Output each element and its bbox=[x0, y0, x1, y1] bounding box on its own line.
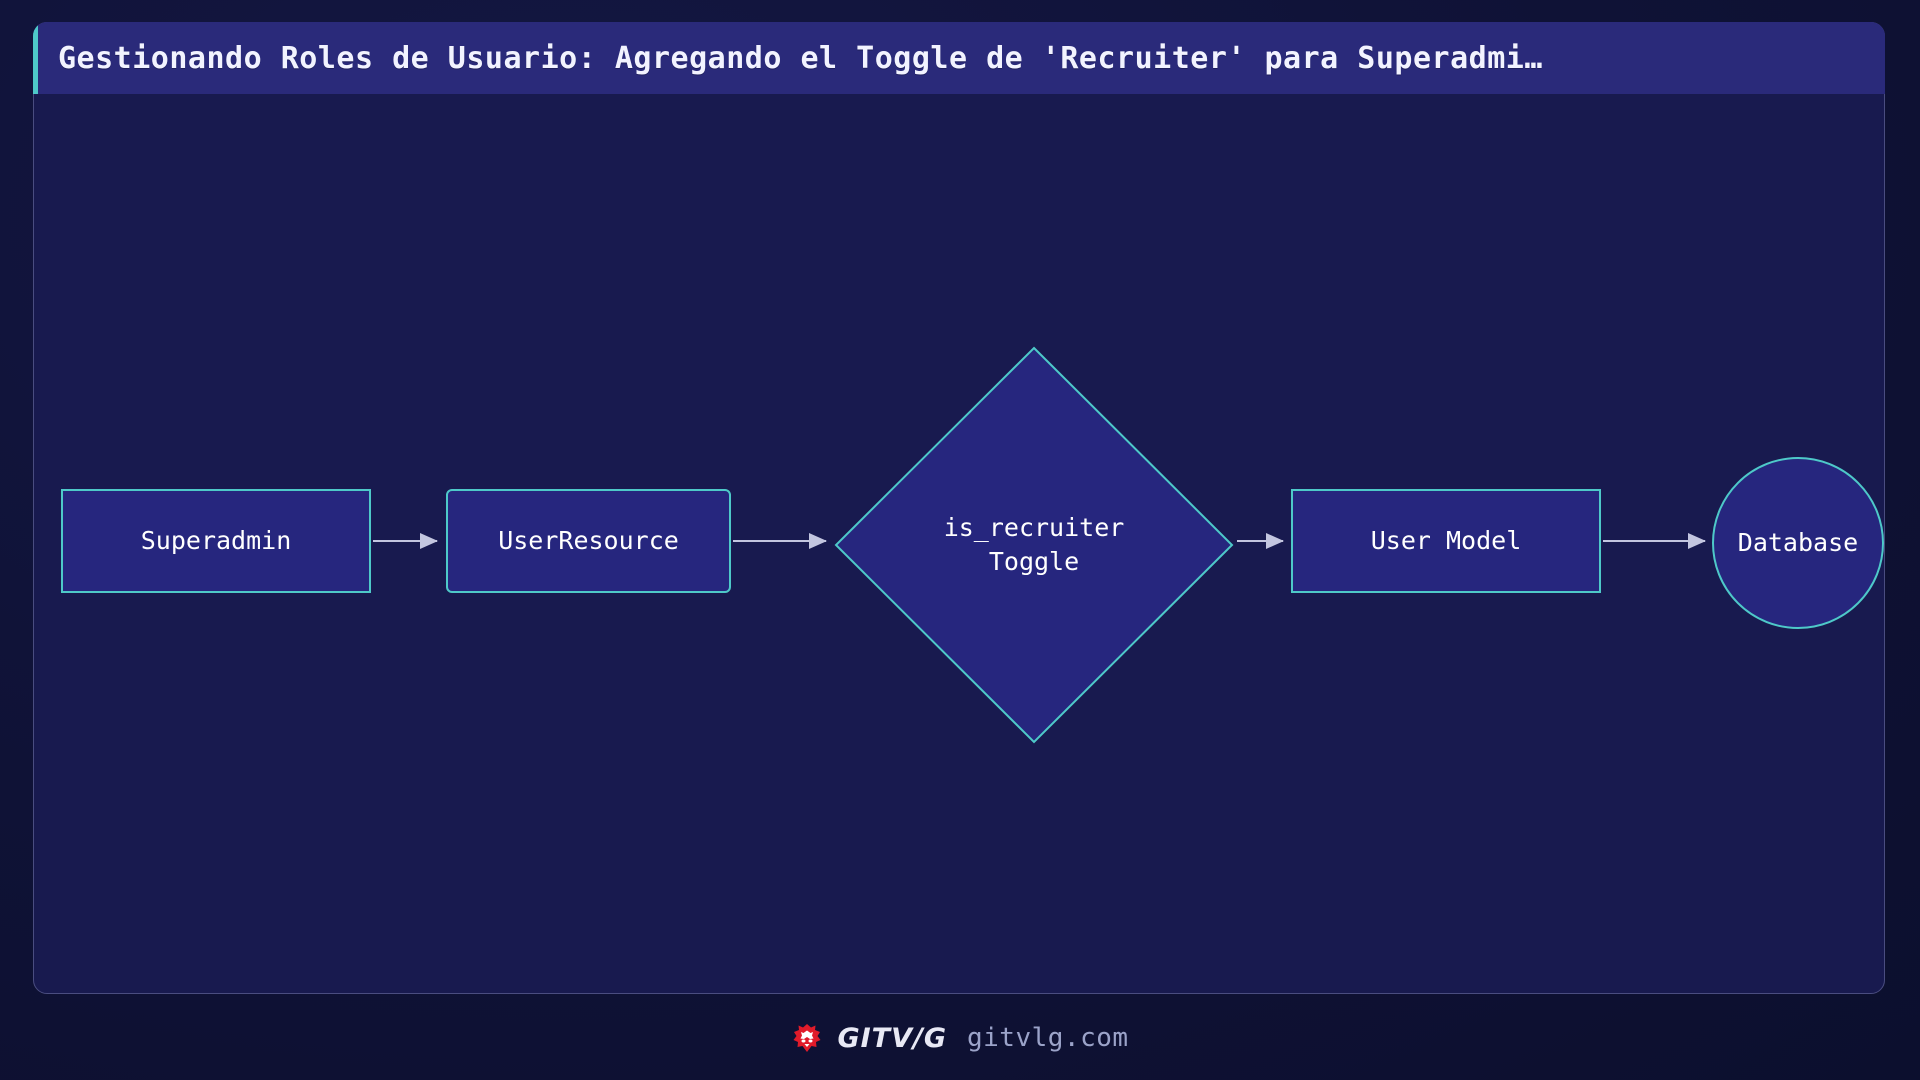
flow-node-userresource[interactable]: UserResource bbox=[446, 489, 731, 593]
title-accent-bar bbox=[33, 22, 38, 94]
flow-node-superadmin-label: Superadmin bbox=[141, 524, 292, 558]
flow-node-database[interactable]: Database bbox=[1712, 457, 1884, 629]
flow-node-superadmin[interactable]: Superadmin bbox=[61, 489, 371, 593]
flow-node-user-model-label: User Model bbox=[1371, 524, 1522, 558]
flow-node-decision-is-recruiter-toggle[interactable]: is_recruiter Toggle bbox=[833, 345, 1235, 745]
brand-name: GITV/G bbox=[837, 1023, 947, 1054]
flow-node-user-model[interactable]: User Model bbox=[1291, 489, 1601, 593]
slide-title-banner: Gestionando Roles de Usuario: Agregando … bbox=[33, 22, 1885, 94]
footer-branding: GITV/G gitvlg.com bbox=[0, 1010, 1920, 1066]
flow-node-decision-label: is_recruiter Toggle bbox=[833, 345, 1235, 745]
flowchart-canvas: Superadmin UserResource is_recruiter Tog… bbox=[33, 94, 1885, 994]
flow-node-database-label: Database bbox=[1738, 526, 1858, 560]
flow-node-userresource-label: UserResource bbox=[498, 524, 679, 558]
page-title: Gestionando Roles de Usuario: Agregando … bbox=[58, 41, 1543, 76]
brand-url: gitvlg.com bbox=[967, 1023, 1129, 1053]
lion-head-icon bbox=[791, 1022, 823, 1054]
